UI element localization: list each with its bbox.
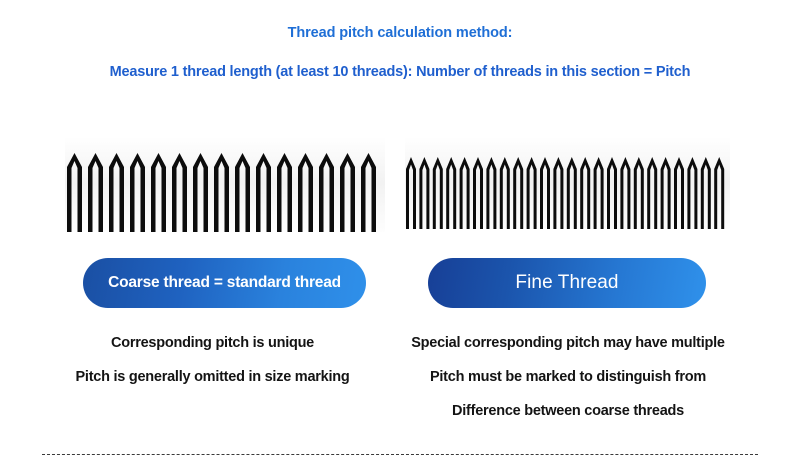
fine-caption-line-2: Pitch must be marked to distinguish from (388, 360, 748, 394)
coarse-caption-line-1: Corresponding pitch is unique (40, 326, 385, 360)
fine-thread-button[interactable]: Fine Thread (428, 258, 706, 308)
heading-block: Thread pitch calculation method: Measure… (0, 0, 800, 82)
fine-caption-line-3: Difference between coarse threads (388, 394, 748, 428)
coarse-caption-column: Corresponding pitch is unique Pitch is g… (40, 326, 385, 394)
coarse-thread-graphic (65, 137, 385, 239)
coarse-thread-image (65, 137, 385, 239)
fine-thread-graphic (405, 137, 730, 239)
page-subtitle: Measure 1 thread length (at least 10 thr… (0, 64, 800, 81)
page-title: Thread pitch calculation method: (0, 25, 800, 42)
coarse-caption-line-2: Pitch is generally omitted in size marki… (40, 360, 385, 394)
fine-caption-column: Special corresponding pitch may have mul… (388, 326, 748, 428)
coarse-thread-button[interactable]: Coarse thread = standard thread (83, 258, 366, 308)
section-divider (42, 454, 758, 455)
fine-caption-line-1: Special corresponding pitch may have mul… (388, 326, 748, 360)
thread-figures-row (0, 137, 800, 239)
captions-row: Corresponding pitch is unique Pitch is g… (0, 326, 800, 436)
fine-thread-image (405, 137, 730, 239)
